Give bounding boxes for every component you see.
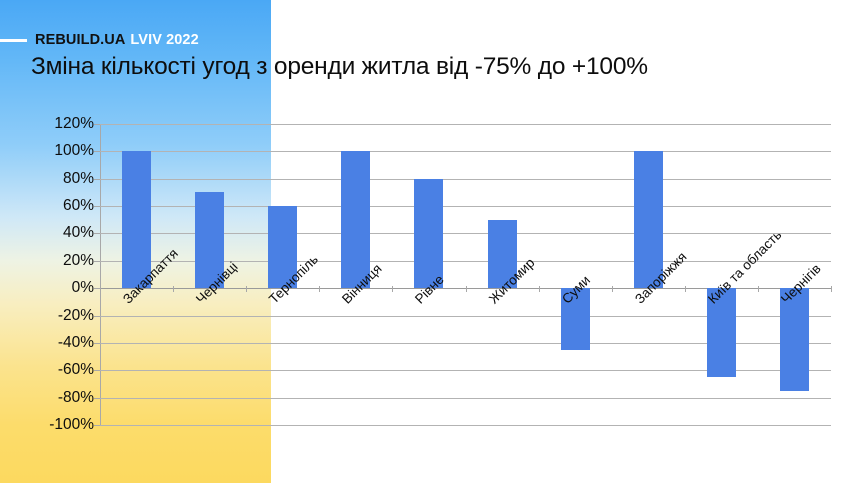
y-axis-tick: [94, 206, 100, 207]
y-axis-tick-label: 0%: [30, 279, 94, 297]
y-axis-tick: [94, 179, 100, 180]
gridline: [100, 425, 831, 426]
y-axis-tick: [94, 316, 100, 317]
x-axis-tick: [392, 286, 393, 292]
y-axis-tick: [94, 370, 100, 371]
bar[interactable]: [780, 288, 809, 391]
y-axis-tick-label: 40%: [30, 224, 94, 242]
y-axis-tick: [94, 151, 100, 152]
x-axis-tick: [831, 286, 832, 292]
gridline: [100, 398, 831, 399]
x-axis-tick: [100, 286, 101, 292]
y-axis-tick-label: 120%: [30, 115, 94, 133]
y-axis-tick: [94, 343, 100, 344]
x-axis-tick: [685, 286, 686, 292]
x-axis-tick: [466, 286, 467, 292]
y-axis-tick: [94, 425, 100, 426]
y-axis-tick-label: -40%: [30, 334, 94, 352]
y-axis-tick-label: 100%: [30, 142, 94, 160]
gridline: [100, 151, 831, 152]
x-axis-tick: [173, 286, 174, 292]
chart-plot-area: [100, 124, 831, 425]
y-axis-tick-label: -80%: [30, 389, 94, 407]
y-axis-tick: [94, 261, 100, 262]
y-axis-tick-label: 80%: [30, 170, 94, 188]
y-axis-tick: [94, 398, 100, 399]
y-axis-tick-label: 20%: [30, 252, 94, 270]
page-title: Зміна кількості угод з оренди житла від …: [31, 53, 648, 81]
y-axis-tick-label: -100%: [30, 416, 94, 434]
y-axis-tick-label: 60%: [30, 197, 94, 215]
y-axis-tick-label: -20%: [30, 307, 94, 325]
x-axis-tick: [612, 286, 613, 292]
gridline: [100, 124, 831, 125]
gridline: [100, 179, 831, 180]
brand-event-name: LVIV 2022: [130, 32, 198, 48]
x-axis-tick: [319, 286, 320, 292]
x-axis-tick: [246, 286, 247, 292]
bar[interactable]: [414, 179, 443, 288]
y-axis-labels: 120%100%80%60%40%20%0%-20%-40%-60%-80%-1…: [22, 0, 94, 483]
y-axis-tick: [94, 124, 100, 125]
x-axis-tick: [539, 286, 540, 292]
y-axis-tick-label: -60%: [30, 361, 94, 379]
y-axis-tick: [94, 233, 100, 234]
x-axis-tick: [758, 286, 759, 292]
